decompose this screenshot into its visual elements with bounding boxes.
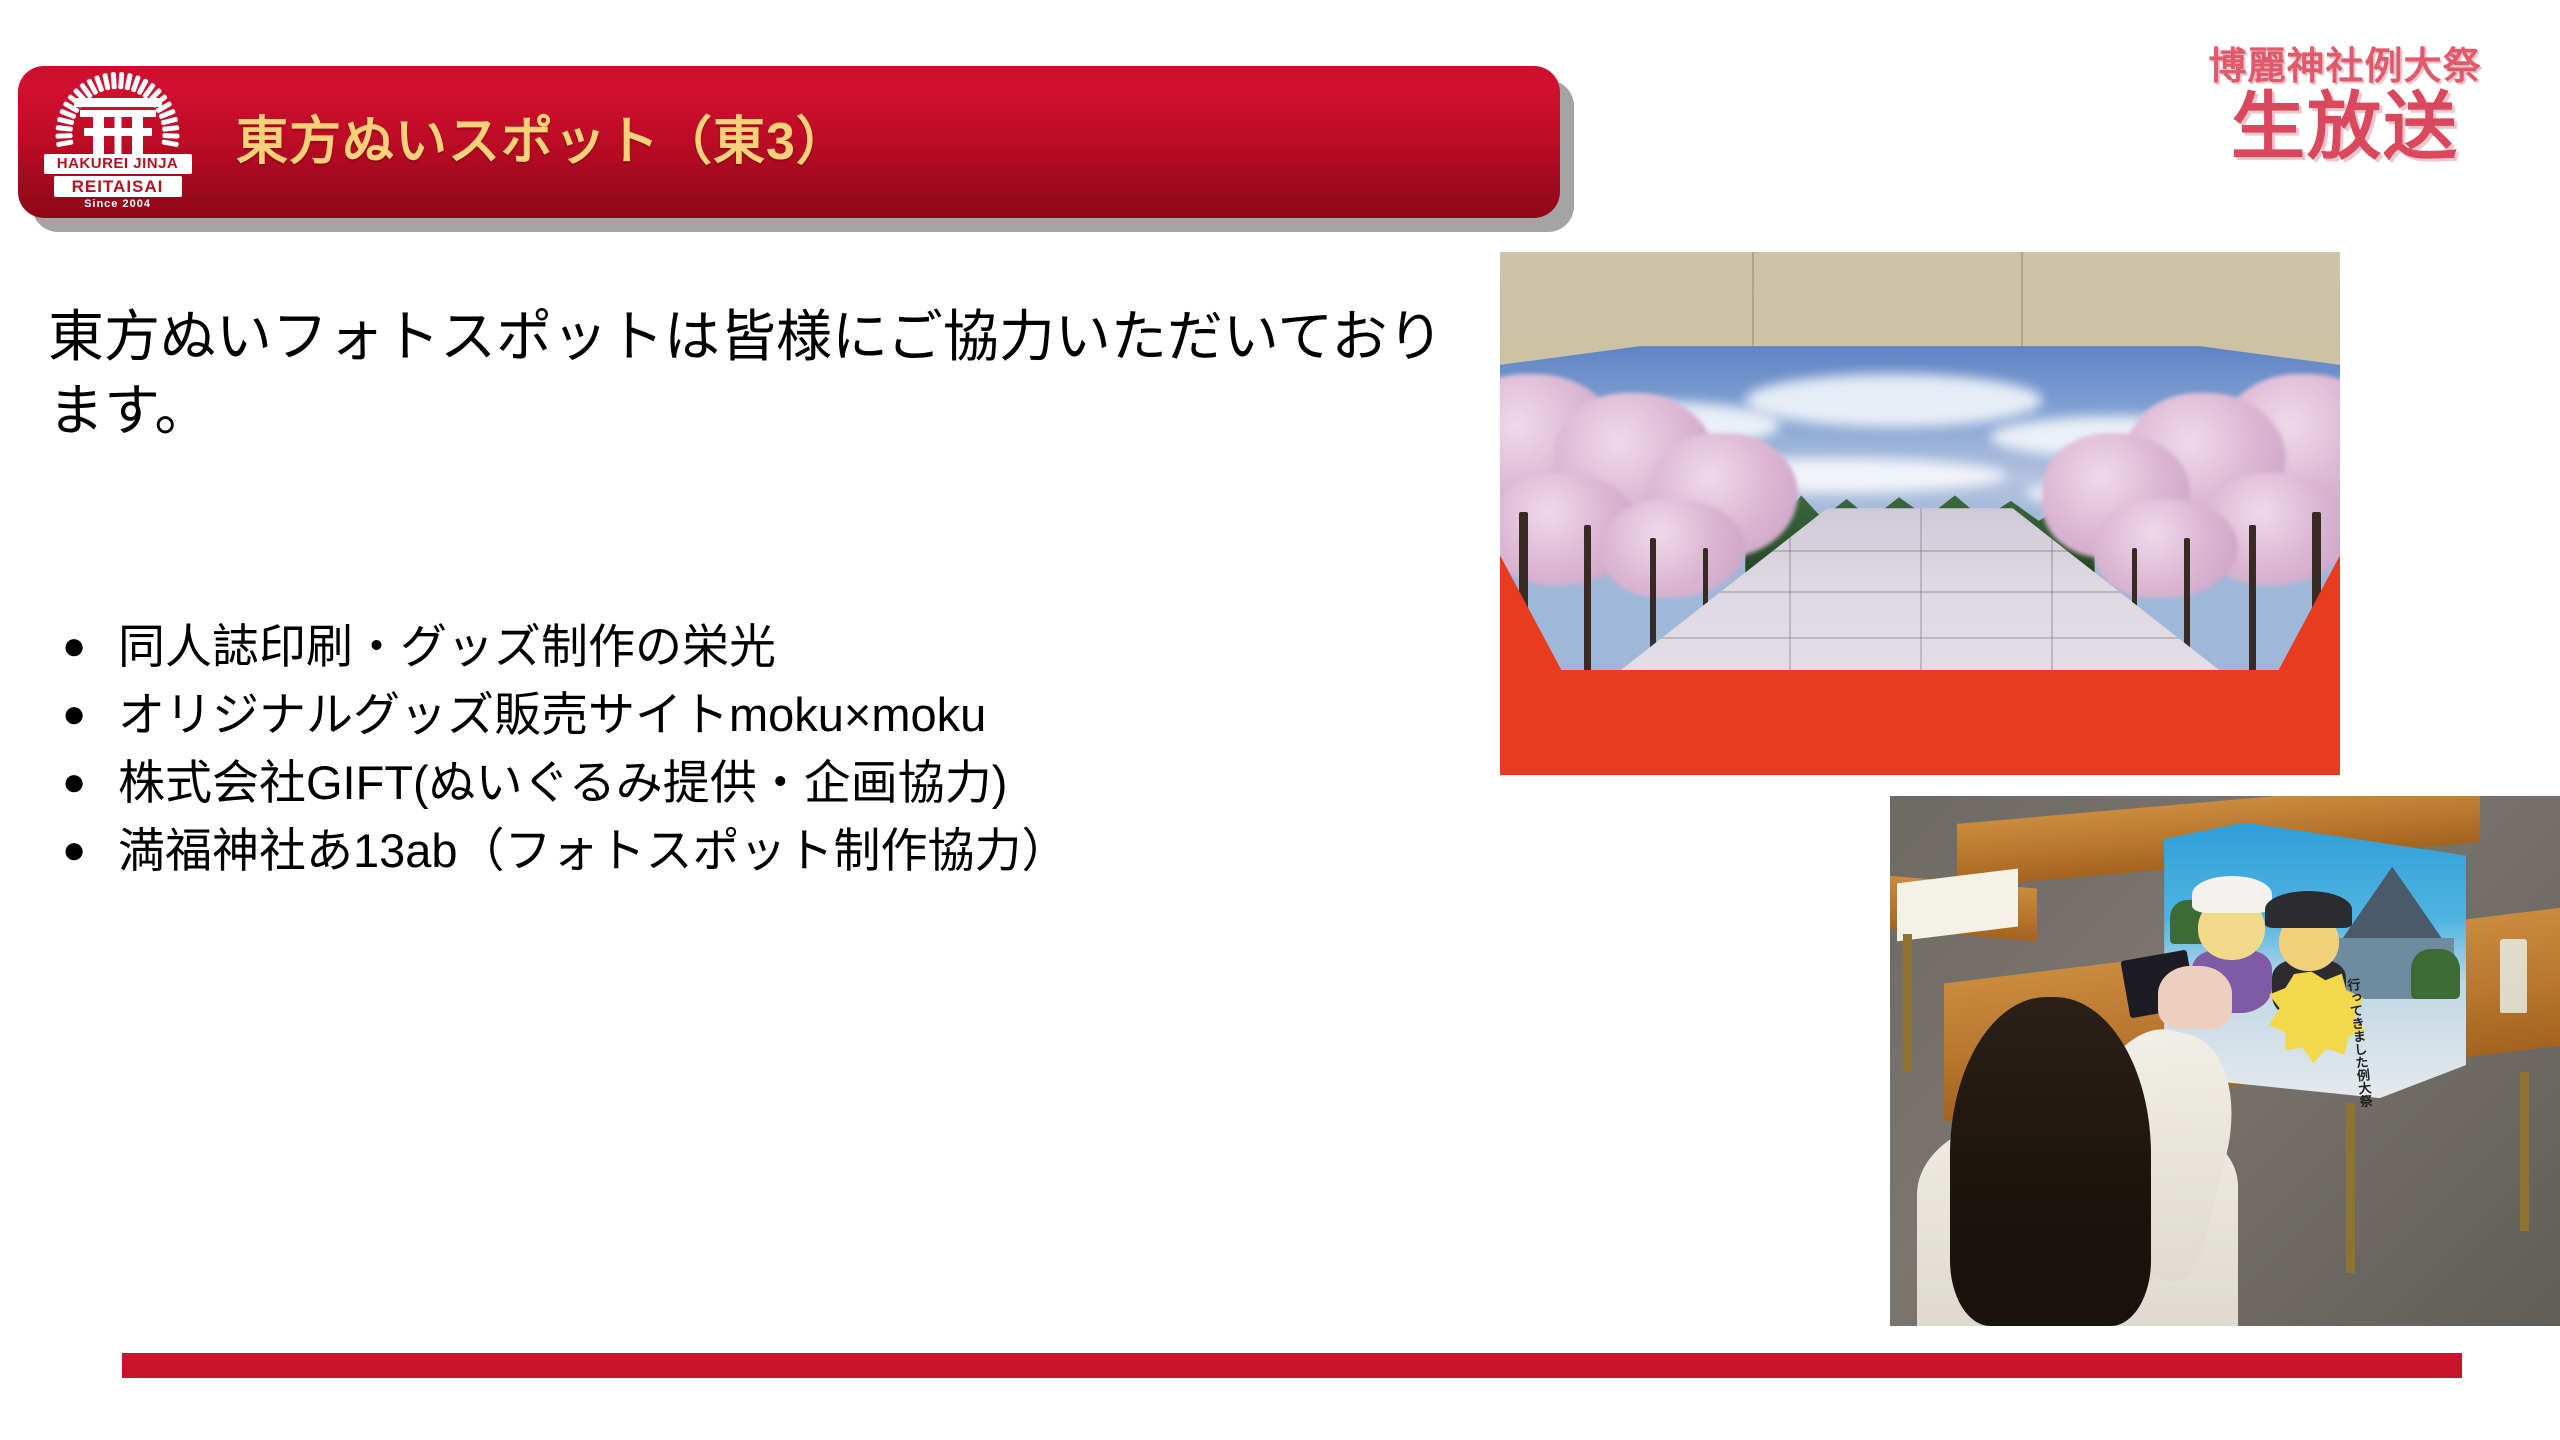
list-item-label: 株式会社GIFT(ぬいぐるみ提供・企画協力) [104, 759, 1007, 806]
bullet-dot-icon: ● [62, 762, 104, 802]
sunburst-ray [56, 139, 74, 147]
visitor-hand [2158, 966, 2232, 1030]
sunburst-ray [56, 125, 73, 132]
list-item-label: 同人誌印刷・グッズ制作の栄光 [104, 623, 776, 670]
red-mat-front [1500, 670, 2340, 775]
logo-line-2: REITAISAI [54, 176, 182, 197]
list-item-label: 満福神社あ13ab（フォトスポット制作協力） [104, 827, 1069, 874]
sunburst-ray [161, 139, 179, 147]
yellow-burst-sign-text: 行ってきました例大祭 [2265, 977, 2372, 1116]
sunburst-ray [111, 72, 117, 89]
page-title: 東方ぬいスポット（東3） [236, 66, 849, 218]
logo-line-1: HAKUREI JINJA [44, 154, 192, 174]
sunburst-ray [162, 133, 179, 139]
brand-subtitle: 博麗神社例大祭 [2190, 48, 2500, 86]
photo-shrine-backdrop [1500, 252, 2340, 775]
sunburst-ray [162, 125, 179, 132]
list-item: ● 株式会社GIFT(ぬいぐるみ提供・企画協力) [62, 748, 1502, 816]
bullet-dot-icon: ● [62, 830, 104, 870]
torii-icon [74, 98, 162, 160]
list-item-label: オリジナルグッズ販売サイトmoku×moku [104, 691, 986, 738]
lead-paragraph: 東方ぬいフォトスポットは皆様にご協力いただいております。 [48, 300, 1478, 448]
sunburst-ray [55, 133, 72, 139]
photo-visitor-taking-picture: 行ってきました例大祭 [1890, 796, 2560, 1326]
plastic-bottle [2500, 939, 2527, 1013]
plush-marisa-hat [2265, 891, 2352, 928]
visitor-hair [1950, 997, 2151, 1326]
bullet-dot-icon: ● [62, 694, 104, 734]
logo-since-text: Since 2004 [84, 198, 151, 210]
list-item: ● オリジナルグッズ販売サイトmoku×moku [62, 680, 1502, 748]
header-bar: 東方ぬいスポット（東3） [18, 66, 1560, 218]
list-item: ● 満福神社あ13ab（フォトスポット制作協力） [62, 816, 1502, 884]
brand-title: 生放送 [2190, 92, 2500, 162]
footer-bar [122, 1353, 2462, 1378]
bullet-dot-icon: ● [62, 626, 104, 666]
list-item: ● 同人誌印刷・グッズ制作の栄光 [62, 612, 1502, 680]
sunburst-ray [118, 72, 124, 89]
hakurei-jinja-reitaisai-logo: HAKUREI JINJA REITAISAI Since 2004 [30, 72, 205, 212]
namahousou-brand-logo: 博麗神社例大祭 生放送 [2190, 48, 2500, 162]
plush-yukari-hat [2192, 876, 2272, 913]
credits-list: ● 同人誌印刷・グッズ制作の栄光 ● オリジナルグッズ販売サイトmoku×mok… [62, 612, 1502, 884]
